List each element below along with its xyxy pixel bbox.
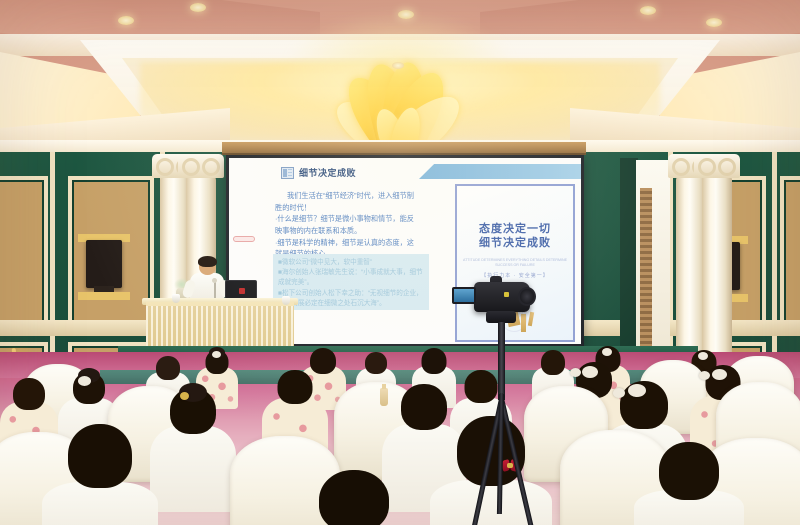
downlight <box>706 18 722 27</box>
poster-headline: 态度决定一切 细节决定成败 <box>457 222 573 250</box>
slide-bullet-icon <box>281 167 294 179</box>
hair-clip <box>602 348 612 356</box>
person-head <box>68 424 132 488</box>
corinthian-column-right-b <box>702 176 732 372</box>
water-cup <box>172 294 180 303</box>
poster-headline-line1: 态度决定一切 <box>457 222 573 236</box>
person-head <box>422 348 447 374</box>
hair-clip <box>613 388 625 398</box>
hair-clip <box>78 376 91 386</box>
camera-rig[interactable] <box>452 282 548 525</box>
camera-lcd-screen[interactable] <box>452 287 476 304</box>
person-torso <box>42 482 158 525</box>
person-head <box>310 348 336 374</box>
person-torso <box>150 426 236 512</box>
callout-line: ■微软公司“微中见大，软中重智” <box>278 258 424 268</box>
tripod-column <box>498 322 505 400</box>
poster-headline-line2: 细节决定成败 <box>457 236 573 250</box>
person-head <box>13 378 45 410</box>
poster-tagline: 【执行力本 · 安全第一】 <box>457 272 573 279</box>
hair-clip <box>628 384 646 397</box>
door-panel-texture <box>640 188 652 356</box>
wall-panel-divider <box>50 152 55 370</box>
slide-title-banner <box>419 164 581 179</box>
wall-panel-divider <box>772 152 777 370</box>
slide-title: 细节决定成败 <box>299 166 356 179</box>
downlight <box>640 6 656 15</box>
person-head <box>156 356 180 380</box>
column-capital <box>178 154 224 178</box>
audience-person <box>150 390 236 506</box>
hair-clip <box>698 352 708 360</box>
callout-line: ■海尔创始人张瑞敏先生说：“小事成就大事，细节成就完美”。 <box>278 268 424 288</box>
camera-indicator <box>504 292 509 297</box>
water-cup <box>282 296 290 305</box>
tripod-leg <box>497 394 504 514</box>
person-head <box>319 470 389 525</box>
downlight <box>190 3 206 12</box>
conference-hall-photo: 细节决定成败 我们生活在“细节经济”时代，进入细节制胜的时代！ ·什么是细节？细… <box>0 0 800 525</box>
petal-chandelier <box>300 44 500 152</box>
person-head <box>659 442 719 500</box>
presenter-hair <box>198 256 217 267</box>
wall-inset-panel <box>780 176 800 326</box>
wall-speaker-left <box>86 240 122 288</box>
downlight <box>118 16 134 25</box>
downlight <box>392 62 404 69</box>
slide-body-line: ·什么是细节？细节是微小事物和情节，能反映事物的内在联系和本质。 <box>275 213 421 236</box>
slide-left-marker <box>233 236 255 242</box>
slide-header: 细节决定成败 <box>281 166 356 179</box>
slide-body-text: 我们生活在“细节经济”时代，进入细节制胜的时代！ ·什么是细节？细节是微小事物和… <box>275 190 421 260</box>
ceiling <box>0 0 800 152</box>
wall-inset-panel <box>0 176 48 326</box>
audience-person <box>42 430 158 525</box>
person-head <box>278 370 313 404</box>
callout-line: ■松下公司创始人松下幸之助：“无视细节的企业，她的发展必定在细微之处石沉大海”。 <box>278 289 424 309</box>
slide-body-line: 我们生活在“细节经济”时代，进入细节制胜的时代！ <box>275 190 421 213</box>
tripod-leg <box>498 393 537 525</box>
downlight <box>398 10 414 19</box>
hair-clip <box>699 371 710 380</box>
desk-microphone <box>212 278 217 283</box>
person-head <box>365 352 387 374</box>
audience-person <box>634 446 744 525</box>
hair-pin <box>180 392 189 400</box>
speaker-bracket <box>78 292 130 300</box>
column-capital <box>694 154 740 178</box>
hair-clip <box>570 368 581 377</box>
screen-valance <box>222 142 586 155</box>
laptop-lid <box>225 280 257 300</box>
camera-lens <box>518 287 536 306</box>
hair-clip <box>212 351 221 358</box>
hair-clip <box>712 369 727 380</box>
poster-subline: ATTITUDE DETERMINES EVERYTHING DETAILS D… <box>457 258 573 269</box>
audience-person <box>300 470 408 525</box>
hair-clip <box>582 366 598 378</box>
laptop-logo <box>239 288 245 294</box>
